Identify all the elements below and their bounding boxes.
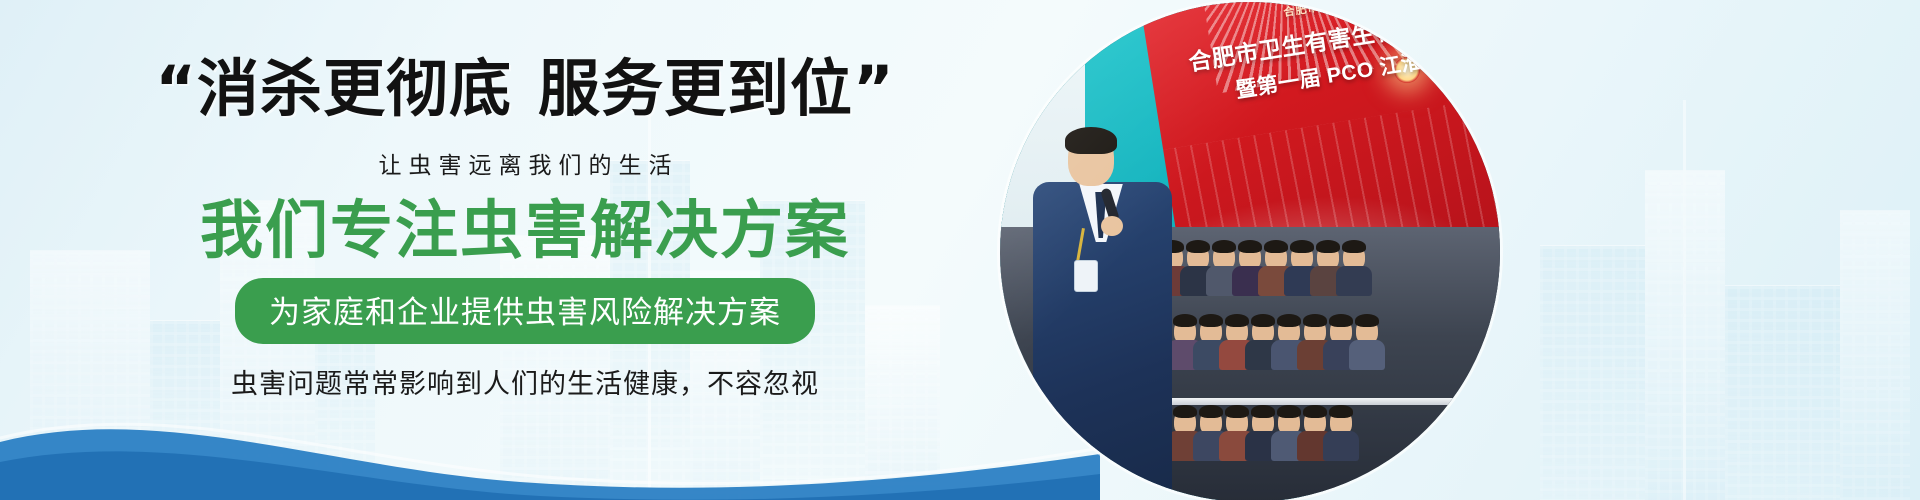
banner-copy: “消杀更彻底服务更到位” 让虫害远离我们的生活 我们专注虫害解决方案 为家庭和企… bbox=[0, 0, 1050, 500]
banner-footnote: 虫害问题常常影响到人们的生活健康，不容忽视 bbox=[231, 362, 819, 401]
banner-subtitle: 让虫害远离我们的生活 bbox=[372, 146, 679, 180]
photo-gloss-overlay bbox=[1000, 2, 1500, 500]
headline-part-2: 服务更到位 bbox=[538, 55, 853, 124]
promo-banner: “消杀更彻底服务更到位” 让虫害远离我们的生活 我们专注虫害解决方案 为家庭和企… bbox=[0, 0, 1920, 500]
close-quote-mark: ” bbox=[853, 52, 895, 125]
banner-green-title: 我们专注虫害解决方案 bbox=[200, 198, 850, 264]
open-quote-mark: “ bbox=[155, 52, 197, 125]
conference-photo: 合肥市卫生有害生物防制协会 合肥市卫生有害生物防制协会2023 暨第一届 PCO… bbox=[1000, 2, 1500, 500]
service-scope-badge: 为家庭和企业提供虫害风险解决方案 bbox=[235, 278, 815, 344]
headline-part-1: 消杀更彻底 bbox=[197, 55, 512, 124]
page-title: “消杀更彻底服务更到位” bbox=[155, 56, 895, 122]
conference-photo-circle: 合肥市卫生有害生物防制协会 合肥市卫生有害生物防制协会2023 暨第一届 PCO… bbox=[1000, 2, 1500, 500]
